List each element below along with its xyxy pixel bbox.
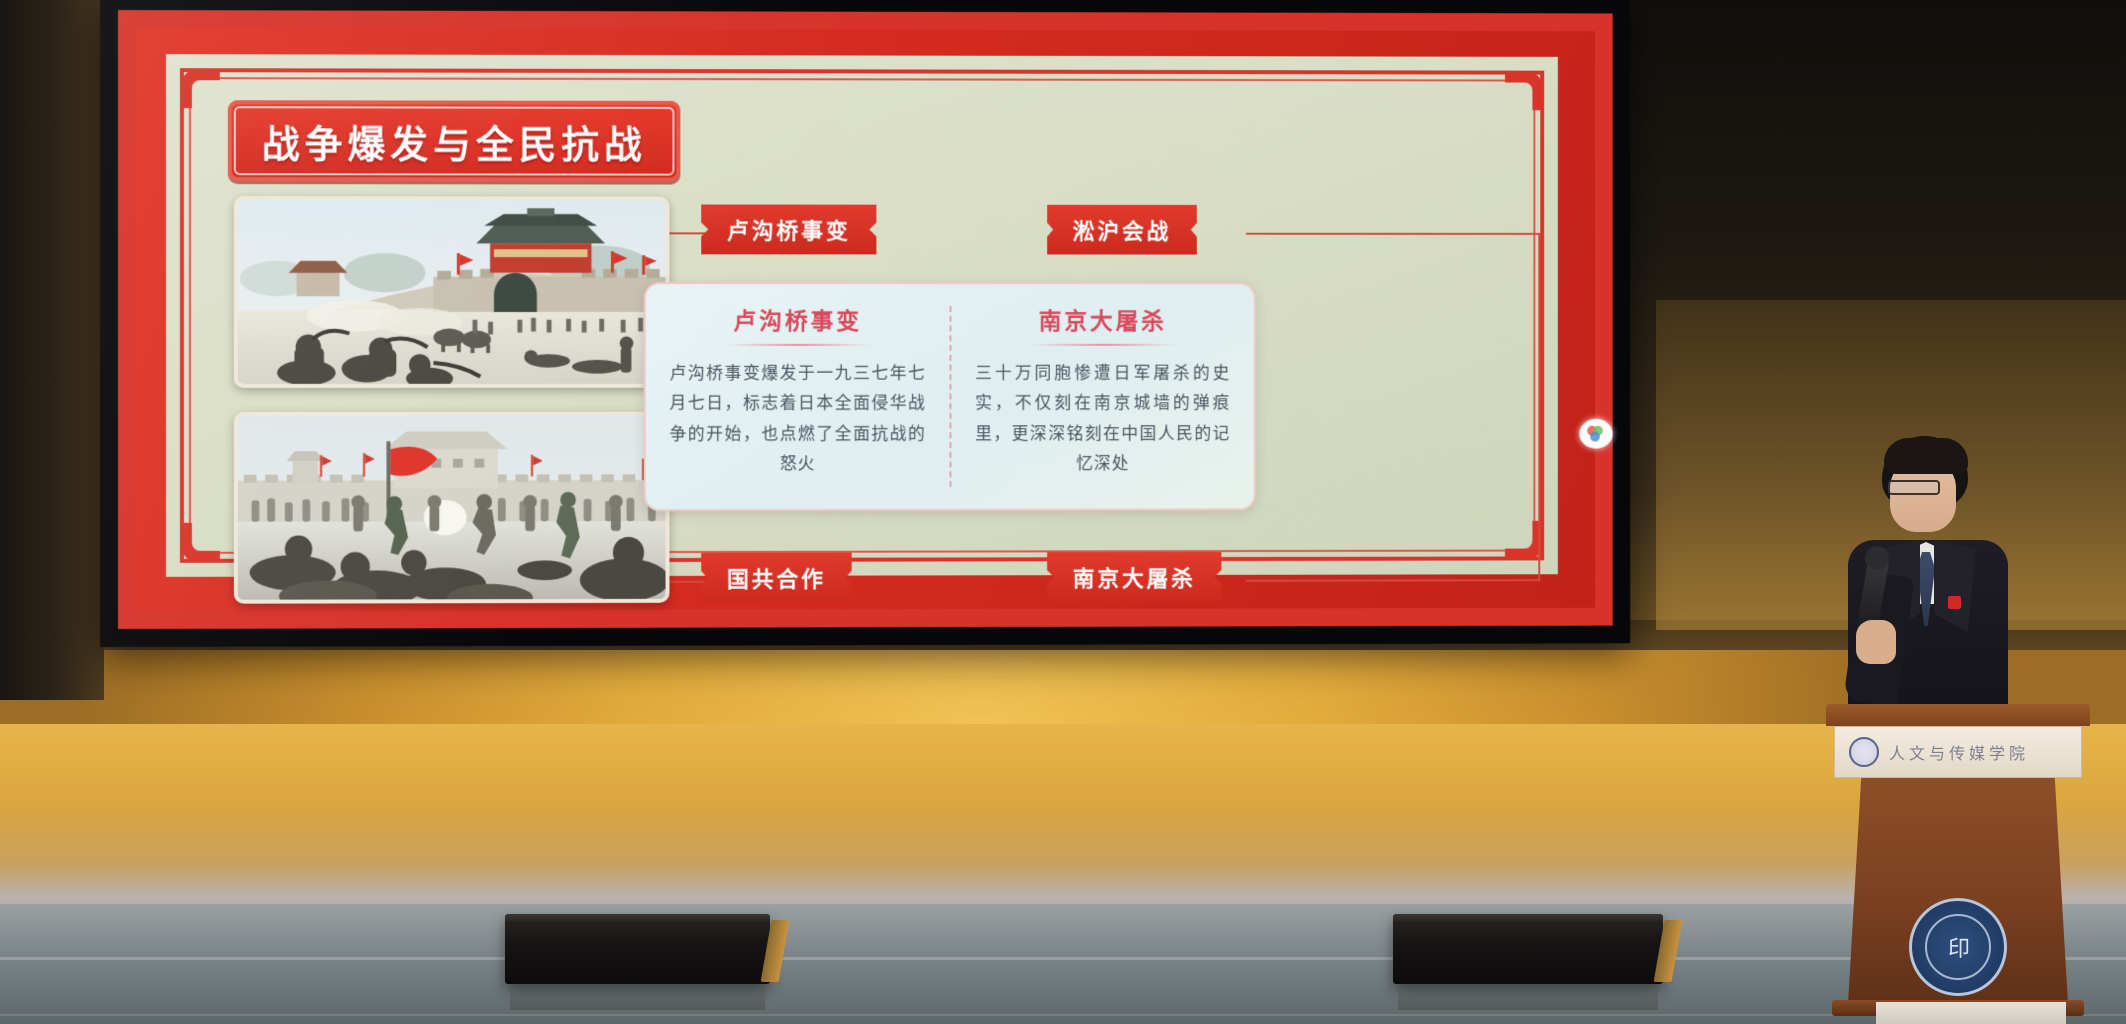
photo-bottom-illustration — [238, 416, 666, 604]
podium-emblem: 印 — [1909, 898, 2007, 996]
info-left-body: 卢沟桥事变爆发于一九三七年七月七日，标志着日本全面侵华战争的开始，也点燃了全面抗… — [669, 359, 925, 480]
lapel-badge-icon — [1948, 596, 1961, 609]
tag-lugouqiao-incident[interactable]: 卢沟桥事变 — [701, 205, 876, 255]
podium-body: 印 — [1848, 778, 2068, 1004]
info-card: 卢沟桥事变 卢沟桥事变爆发于一九三七年七月七日，标志着日本全面侵华战争的开始，也… — [644, 282, 1256, 511]
info-column-left: 卢沟桥事变 卢沟桥事变爆发于一九三七年七月七日，标志着日本全面侵华战争的开始，也… — [646, 284, 950, 509]
connector-bottom-right — [1246, 579, 1540, 582]
podium-top-surface — [1826, 704, 2090, 726]
presenter-area: 人文与传媒学院 印 — [1808, 424, 2108, 1004]
microphone-head-icon — [1865, 546, 1889, 570]
colorful-logo-icon — [1585, 424, 1607, 444]
podium-nameplate: 人文与传媒学院 — [1834, 726, 2082, 778]
page-title: 战争爆发与全民抗战 — [262, 121, 647, 166]
slide-panel: 战争爆发与全民抗战 — [166, 54, 1558, 577]
connector-top-right — [1246, 233, 1540, 235]
info-left-heading: 卢沟桥事变 — [733, 302, 862, 336]
floor-marker-strip — [1876, 1002, 2066, 1024]
info-left-rule — [724, 344, 870, 346]
slide-red-field: 战争爆发与全民抗战 — [136, 28, 1595, 611]
corner-flourish-bottom-left — [180, 523, 220, 563]
photo-soldiers-with-red-flag — [234, 412, 670, 604]
info-right-heading: 南京大屠杀 — [1039, 302, 1167, 336]
podium: 人文与传媒学院 印 — [1826, 704, 2090, 1004]
monitor-top-face — [505, 914, 770, 924]
info-right-body: 三十万同胞惨遭日军屠杀的史实，不仅刻在南京城墙的弹痕里，更深深铭刻在中国人民的记… — [975, 359, 1230, 479]
stage-scene: 战争爆发与全民抗战 — [0, 0, 2126, 1024]
left-column — [0, 0, 104, 700]
tag-kmt-cpc-cooperation[interactable]: 国共合作 — [701, 553, 851, 603]
corner-flourish-top-right — [1505, 71, 1544, 111]
info-right-rule — [1030, 344, 1176, 346]
connector-photo-to-tag-top — [669, 232, 709, 234]
photo-top-illustration — [238, 200, 666, 388]
photo-battle-at-city-gate — [234, 196, 670, 388]
corner-flourish-bottom-right — [1505, 521, 1544, 561]
connector-right-vertical — [1538, 233, 1540, 581]
projection-screen: 战争爆发与全民抗战 — [100, 0, 1630, 647]
watermark-badge-icon — [1579, 419, 1612, 449]
presenter-hair-front — [1884, 438, 1968, 474]
floor-seam-lower — [0, 1014, 2126, 1016]
podium-seal-icon — [1849, 737, 1879, 767]
stage-monitor-left — [505, 914, 770, 984]
glasses-icon — [1888, 480, 1940, 495]
podium-emblem-glyph: 印 — [1925, 914, 1991, 980]
stage-monitor-right — [1393, 914, 1663, 984]
tag-songhu-campaign[interactable]: 淞沪会战 — [1047, 205, 1197, 255]
monitor-top-face — [1393, 914, 1663, 924]
screen-bezel: 战争爆发与全民抗战 — [100, 0, 1630, 647]
presenter-hand — [1856, 620, 1896, 664]
slide-title-banner: 战争爆发与全民抗战 — [228, 100, 681, 181]
tag-nanjing-massacre[interactable]: 南京大屠杀 — [1047, 552, 1221, 602]
corner-flourish-top-left — [180, 68, 220, 108]
podium-institution-name: 人文与传媒学院 — [1889, 740, 2029, 764]
info-column-right: 南京大屠杀 三十万同胞惨遭日军屠杀的史实，不仅刻在南京城墙的弹痕里，更深深铭刻在… — [951, 284, 1253, 509]
